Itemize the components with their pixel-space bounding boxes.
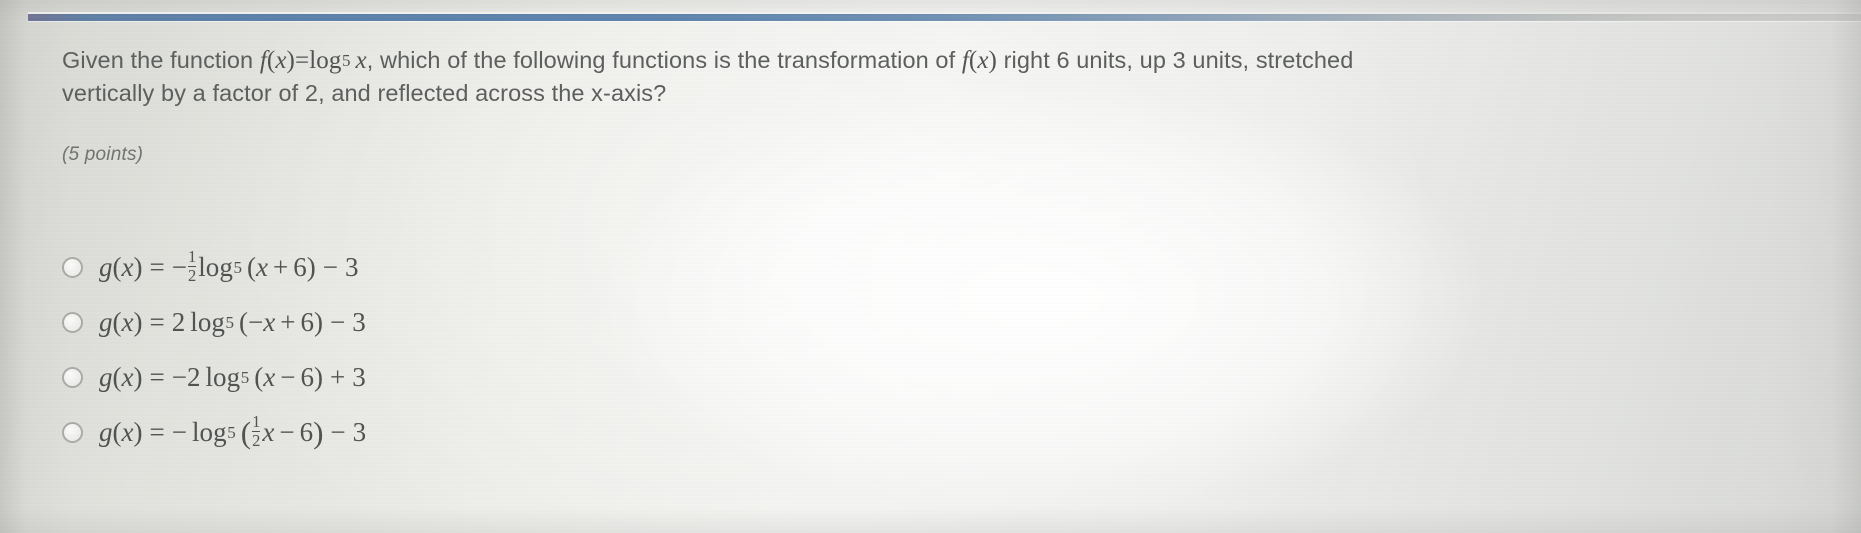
log-operator-c: log: [205, 362, 240, 393]
close-paren-2: ): [989, 45, 997, 77]
arg-operator-b: +: [280, 307, 295, 338]
x-symbol-b: x: [122, 307, 134, 338]
arg-open-paren-a: (: [247, 252, 256, 283]
log-base-b: 5: [226, 313, 235, 333]
answer-expression-b: g(x)=2log5(−x+6)−3: [99, 307, 366, 338]
tail-number-a: 3: [345, 252, 359, 283]
close-paren-d: ): [133, 417, 142, 448]
tail-operator-a: −: [323, 252, 338, 283]
fraction-numerator-d: 1: [252, 414, 260, 431]
open-paren-d: (: [113, 417, 122, 448]
close-paren-b: ): [133, 307, 142, 338]
g-symbol-a: g: [99, 252, 113, 283]
answer-option-c[interactable]: g(x)=−2log5(x−6)+3: [62, 350, 962, 405]
answer-expression-c: g(x)=−2log5(x−6)+3: [99, 362, 366, 393]
prompt-text-3: right 6 units, up 3 units, stretched: [997, 47, 1353, 73]
fraction-a: 12: [188, 249, 196, 285]
equals-b: =: [149, 307, 164, 338]
tail-operator-c: +: [330, 362, 345, 393]
x-symbol-a: x: [122, 252, 134, 283]
leading-sign-a: −: [172, 252, 187, 283]
equals-a: =: [149, 252, 164, 283]
tail-operator-d: −: [330, 417, 345, 448]
open-paren-b: (: [113, 307, 122, 338]
close-paren-c: ): [133, 362, 142, 393]
arg-number-a: 6: [293, 252, 307, 283]
open-paren-c: (: [113, 362, 122, 393]
answer-option-d[interactable]: g(x)=−log5(12x−6)−3: [62, 405, 962, 460]
tail-number-b: 3: [352, 307, 366, 338]
equals-d: =: [149, 417, 164, 448]
arg-variable-a: x: [256, 252, 268, 283]
arg-open-paren-d: (: [241, 419, 251, 447]
equals-c: =: [149, 362, 164, 393]
answer-option-a[interactable]: g(x)=−12log5(x+6)−3: [62, 240, 962, 295]
radio-button-a[interactable]: [62, 257, 83, 278]
radio-button-d[interactable]: [62, 422, 83, 443]
arg-variable-c: x: [263, 362, 275, 393]
close-paren-a: ): [133, 252, 142, 283]
question-prompt: Given the function f(x) = log5x, which o…: [62, 44, 1502, 109]
quiz-screen-photo: Given the function f(x) = log5x, which o…: [0, 0, 1861, 533]
fraction-numerator-a: 1: [188, 249, 196, 266]
arg-sign-b: −: [248, 307, 263, 338]
answer-options-list: g(x)=−12log5(x+6)−3 g(x)=2log5(−x+6)−3 g…: [62, 240, 962, 460]
radio-button-b[interactable]: [62, 312, 83, 333]
fraction-d: 12: [252, 414, 260, 450]
question-content: Given the function f(x) = log5x, which o…: [0, 0, 1861, 533]
equals-sign: =: [295, 45, 309, 77]
points-label: (5 points): [62, 144, 143, 166]
x-symbol-d: x: [122, 417, 134, 448]
answer-option-b[interactable]: g(x)=2log5(−x+6)−3: [62, 295, 962, 350]
answer-expression-a: g(x)=−12log5(x+6)−3: [99, 250, 358, 286]
leading-sign-d: −: [172, 417, 187, 448]
tail-number-d: 3: [353, 417, 367, 448]
arg-variable-d: x: [262, 417, 274, 448]
arg-close-paren-c: ): [314, 362, 323, 393]
arg-variable-b: x: [263, 307, 275, 338]
arg-number-b: 6: [300, 307, 314, 338]
x-symbol-2: x: [977, 45, 988, 77]
arg-close-paren-d: ): [313, 419, 323, 447]
log-argument: x: [356, 45, 367, 77]
radio-button-c[interactable]: [62, 367, 83, 388]
arg-operator-c: −: [280, 362, 295, 393]
x-symbol-c: x: [122, 362, 134, 393]
arg-close-paren-b: ): [314, 307, 323, 338]
fraction-denominator-d: 2: [252, 431, 260, 449]
arg-operator-a: +: [273, 252, 288, 283]
arg-close-paren-a: ): [307, 252, 316, 283]
log-base-a: 5: [234, 258, 243, 278]
log-base-c: 5: [241, 368, 250, 388]
prompt-text-2: , which of the following functions is th…: [367, 47, 962, 73]
log-base-d: 5: [227, 423, 236, 443]
function-definition-inline: f(x) = log5x: [260, 45, 367, 77]
g-symbol-b: g: [99, 307, 113, 338]
g-symbol-c: g: [99, 362, 113, 393]
fraction-denominator-a: 2: [188, 266, 196, 284]
prompt-text-line2: vertically by a factor of 2, and reflect…: [62, 77, 1502, 109]
tail-operator-b: −: [330, 307, 345, 338]
log-base: 5: [342, 45, 351, 77]
log-operator: log: [309, 45, 341, 77]
log-operator-b: log: [190, 307, 225, 338]
coefficient-c: 2: [187, 362, 201, 393]
log-operator-a: log: [198, 252, 233, 283]
arg-number-c: 6: [300, 362, 314, 393]
function-reference-inline: f(x): [962, 45, 997, 77]
prompt-text-1: Given the function: [62, 47, 260, 73]
log-operator-d: log: [192, 417, 227, 448]
open-paren-a: (: [113, 252, 122, 283]
x-symbol: x: [275, 45, 286, 77]
f-symbol: f: [260, 45, 267, 77]
arg-operator-d: −: [279, 417, 294, 448]
coefficient-b: 2: [172, 307, 186, 338]
arg-open-paren-b: (: [239, 307, 248, 338]
arg-open-paren-c: (: [254, 362, 263, 393]
f-symbol-2: f: [962, 45, 969, 77]
g-symbol-d: g: [99, 417, 113, 448]
answer-expression-d: g(x)=−log5(12x−6)−3: [99, 415, 366, 451]
tail-number-c: 3: [352, 362, 366, 393]
arg-number-d: 6: [300, 417, 314, 448]
leading-sign-c: −: [172, 362, 187, 393]
close-paren: ): [287, 45, 295, 77]
